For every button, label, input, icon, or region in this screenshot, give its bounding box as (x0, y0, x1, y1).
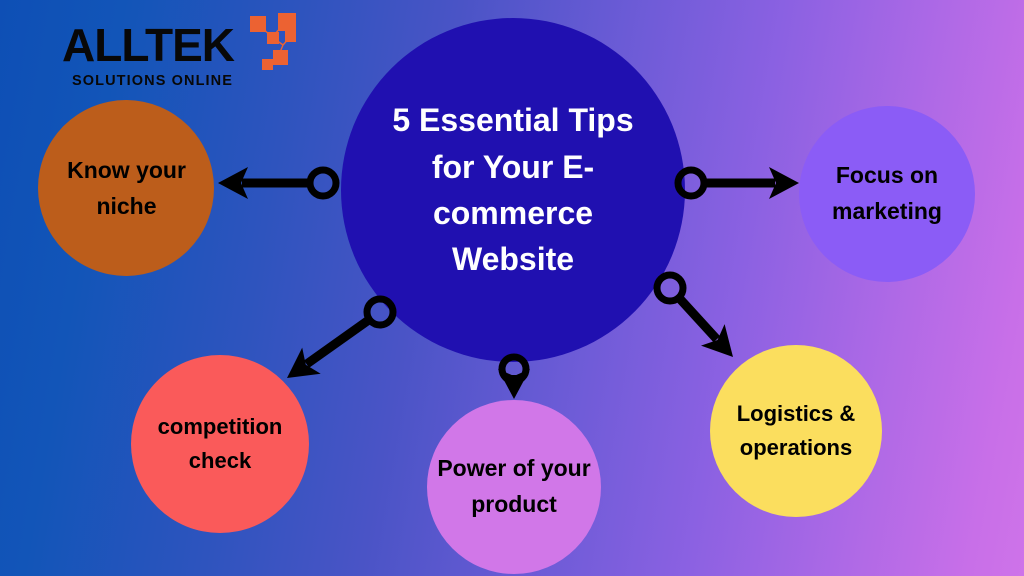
network-nodes-icon (241, 12, 299, 74)
connector-to-competition-ring-tail (367, 299, 393, 325)
node-circle-power-of-your-product[interactable] (427, 400, 601, 574)
brand-tagline: SOLUTIONS ONLINE (72, 74, 233, 89)
connector-to-competition-shaft (307, 321, 368, 364)
brand-logo[interactable]: ALLTEK SOLUTIONS ONLINE (58, 12, 293, 90)
node-circle-logistics-operations[interactable] (710, 345, 882, 517)
connector-to-logistics-ring-tail (657, 275, 683, 301)
node-circle-focus-on-marketing[interactable] (799, 106, 975, 282)
node-circle-know-your-niche[interactable] (38, 100, 214, 276)
connector-to-logistics-shaft (680, 299, 716, 339)
brand-wordmark: ALLTEK (62, 22, 234, 68)
infographic-canvas: 5 Essential Tips for Your E-commerce Web… (0, 0, 1024, 576)
connector-to-niche-ring-tail (310, 170, 336, 196)
node-circle-competition-check[interactable] (131, 355, 309, 533)
